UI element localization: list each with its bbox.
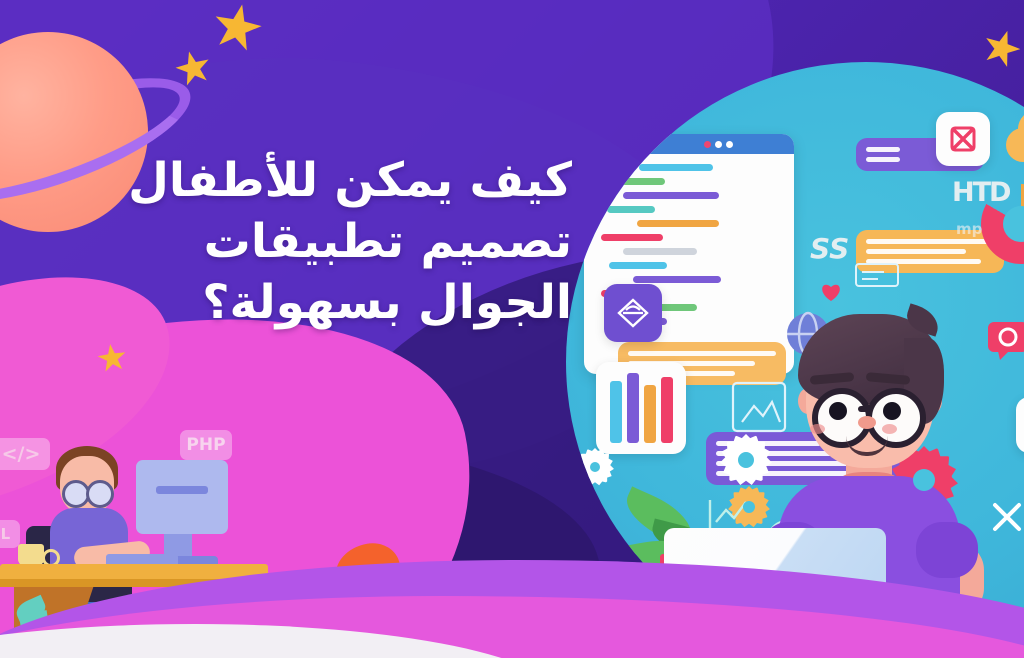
kid-cheek-right (882, 424, 897, 434)
window-dot-white-1 (715, 141, 722, 148)
kid-cheek-left (810, 424, 825, 434)
page-title: كيف يمكن للأطفال تصميم تطبيقات الجوال بس… (92, 150, 572, 333)
chart-bar (661, 377, 673, 443)
diamond-tile-icon (604, 284, 662, 342)
chart-bar (644, 385, 656, 443)
code-line (633, 276, 721, 283)
cloud-icon (1006, 110, 1024, 162)
code-line (623, 192, 719, 199)
php-text: mp (956, 220, 982, 238)
php-badge: PHP (180, 430, 232, 460)
monitor (136, 460, 228, 534)
kid-pupil-left (829, 402, 847, 420)
location-bubble-icon (986, 320, 1024, 366)
star-top-right-icon (979, 25, 1024, 69)
code-tag-badge: </> (0, 438, 50, 470)
mug (18, 544, 44, 566)
chart-bar (610, 381, 622, 443)
headline-line-3: الجوال بسهولة؟ (92, 272, 572, 333)
heart-icon (820, 282, 842, 306)
code-line (601, 234, 663, 241)
html-text: HTD (952, 177, 1009, 208)
square-diamond-tile-icon (1016, 397, 1024, 453)
code-line (609, 262, 667, 269)
close-x-tile-icon (936, 112, 990, 166)
kid-sleeve-right (916, 522, 978, 578)
kid-nose (858, 416, 876, 429)
code-line (639, 164, 713, 171)
kid-glasses-bridge (858, 406, 872, 412)
css-text: SS (810, 232, 849, 265)
code-line (637, 220, 719, 227)
chart-bar (627, 373, 639, 443)
html-badge: ML (0, 520, 20, 548)
window-dot-red (704, 141, 711, 148)
list-outline-icon (854, 262, 900, 292)
monitor-screen-line (156, 486, 208, 494)
kid-pupil-right (883, 402, 901, 420)
code-line (607, 206, 655, 213)
code-line (613, 178, 665, 185)
bar-chart-tile-icon (596, 362, 686, 454)
code-line (623, 248, 697, 255)
close-x-icon (990, 500, 1024, 538)
desk-boy-glasses-right (86, 480, 114, 508)
code-window-titlebar (584, 134, 794, 154)
headline-line-2: تصميم تطبيقات (92, 211, 572, 272)
banner-canvas: كيف يمكن للأطفال تصميم تطبيقات الجوال بس… (0, 0, 1024, 658)
gear-white-small-icon (582, 454, 608, 480)
window-dot-white-2 (726, 141, 733, 148)
headline-line-1: كيف يمكن للأطفال (92, 150, 572, 211)
